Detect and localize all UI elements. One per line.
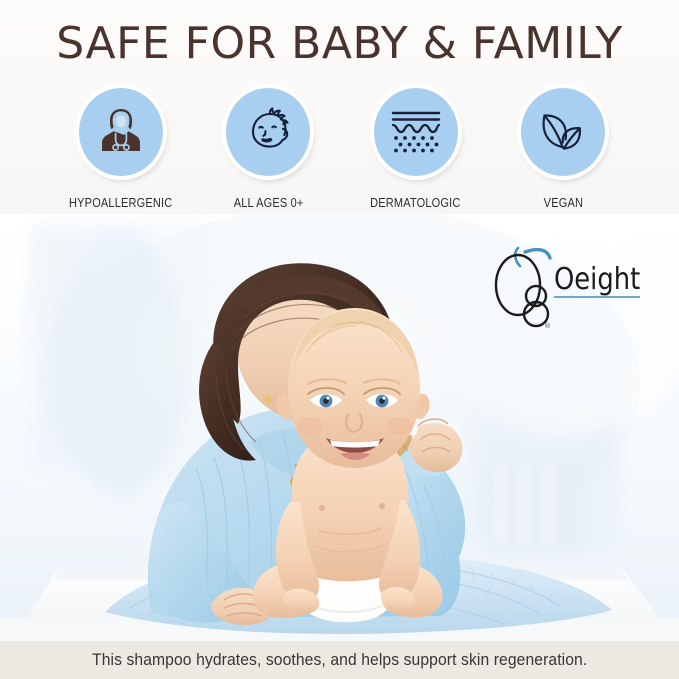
badge-circle	[226, 88, 310, 176]
registered-trademark-symbol: ®	[544, 322, 551, 330]
feature-badge-dermatologic: DERMATOLOGIC	[357, 88, 475, 210]
brand-logo: ® Oeight	[492, 238, 652, 330]
oeight-egg-mark: ®	[492, 238, 554, 330]
feature-badge-hypoallergenic: HYPOALLERGENIC	[62, 88, 180, 210]
logo-wordmark: Oeight	[554, 262, 640, 297]
skin-layer-icon	[389, 107, 443, 158]
caption-text: This shampoo hydrates, soothes, and help…	[92, 651, 587, 670]
feature-badge-list: HYPOALLERGENIC	[62, 88, 622, 210]
badge-circle	[374, 88, 458, 176]
doctor-icon	[96, 104, 146, 161]
badge-circle	[521, 88, 605, 176]
badge-label: DERMATOLOGIC	[370, 196, 460, 210]
header-section: SAFE FOR BABY & FAMILY	[0, 0, 679, 218]
product-infographic: SAFE FOR BABY & FAMILY	[0, 0, 679, 679]
logo-underline	[554, 296, 640, 298]
leaves-icon	[536, 106, 590, 159]
badge-circle	[79, 88, 163, 176]
baby-face-icon	[241, 104, 295, 161]
feature-badge-vegan: VEGAN	[504, 88, 622, 210]
badge-label: HYPOALLERGENIC	[69, 196, 172, 210]
caption-band: This shampoo hydrates, soothes, and help…	[0, 641, 679, 679]
badge-label: ALL AGES 0+	[233, 196, 303, 210]
feature-badge-all-ages: ALL AGES 0+	[209, 88, 327, 210]
page-title: SAFE FOR BABY & FAMILY	[0, 18, 679, 69]
badge-label: VEGAN	[543, 196, 582, 210]
